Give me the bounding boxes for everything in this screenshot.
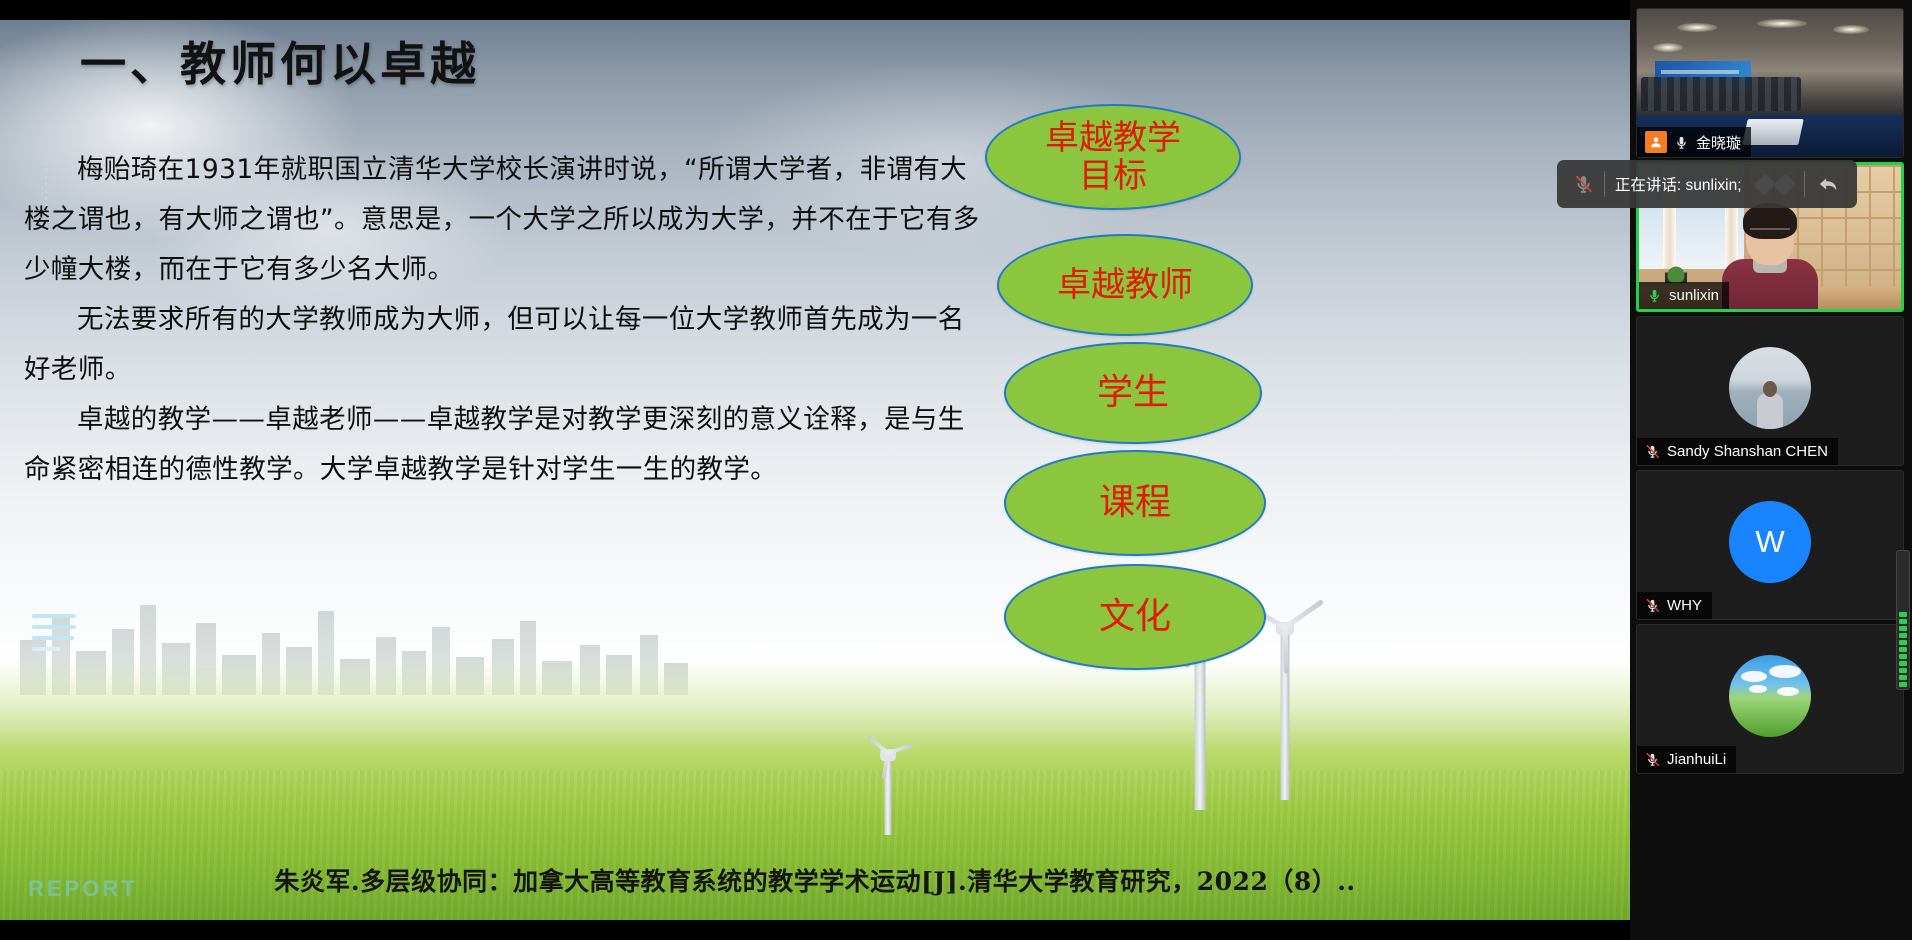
diamond-icon xyxy=(1773,173,1796,196)
meter-bar xyxy=(1899,661,1907,666)
participant-name-badge: Sandy Shanshan CHEN xyxy=(1637,438,1838,465)
speaking-status-toolbar[interactable]: 正在讲话: sunlixin; xyxy=(1557,160,1857,208)
ellipse-node-3[interactable]: 学生 xyxy=(1004,342,1262,444)
mute-toggle-button[interactable] xyxy=(1563,170,1604,198)
wind-turbine-decoration xyxy=(866,725,910,835)
slide-body-text: 梅贻琦在1931年就职国立清华大学校长演讲时说，“所谓大学者，非谓有大楼之谓也，… xyxy=(24,145,984,495)
mic-on-icon xyxy=(1674,133,1689,152)
ellipse-label: 课程 xyxy=(1099,483,1171,523)
meter-bar xyxy=(1899,675,1907,680)
participant-name-badge: sunlixin xyxy=(1639,282,1729,309)
reply-arrow-icon xyxy=(1815,173,1841,195)
meter-bar xyxy=(1899,668,1907,673)
participant-name: Sandy Shanshan CHEN xyxy=(1667,443,1828,460)
slide-paragraph: 梅贻琦在1931年就职国立清华大学校长演讲时说，“所谓大学者，非谓有大楼之谓也，… xyxy=(24,145,984,295)
avatar xyxy=(1645,131,1667,153)
slide-paragraph: 卓越的教学——卓越老师——卓越教学是对教学更深刻的意义诠释，是与生命紧密相连的德… xyxy=(24,395,984,495)
meter-bar xyxy=(1899,647,1907,652)
participant-tile[interactable]: 金晓璇 xyxy=(1636,8,1904,158)
list-lines-icon xyxy=(32,614,82,648)
ellipse-label: 卓越教师 xyxy=(1057,266,1193,304)
letterbox-bottom xyxy=(0,920,1630,940)
participant-tile[interactable]: W WHY xyxy=(1636,470,1904,620)
meeting-window: 一、教师何以卓越 梅贻琦在1931年就职国立清华大学校长演讲时说，“所谓大学者，… xyxy=(0,0,1912,940)
meter-bar xyxy=(1899,612,1907,617)
meter-bar xyxy=(1899,640,1907,645)
mic-muted-icon xyxy=(1645,596,1660,615)
speaking-status-label: 正在讲话: sunlixin; xyxy=(1615,173,1742,195)
return-button[interactable] xyxy=(1805,170,1851,198)
ellipse-node-1[interactable]: 卓越教学 目标 xyxy=(985,104,1241,210)
ellipse-label: 文化 xyxy=(1099,597,1171,637)
mic-muted-icon xyxy=(1573,172,1594,196)
avatar-initial: W xyxy=(1755,524,1784,560)
slide-title: 一、教师何以卓越 xyxy=(80,38,480,91)
diamond-icon xyxy=(1753,173,1776,196)
avatar xyxy=(1729,655,1811,737)
participant-name: WHY xyxy=(1667,597,1702,614)
person-icon xyxy=(1649,135,1663,149)
presentation-slide[interactable]: 一、教师何以卓越 梅贻琦在1931年就职国立清华大学校长演讲时说，“所谓大学者，… xyxy=(0,20,1630,920)
avatar: W xyxy=(1729,501,1811,583)
participant-name: 金晓璇 xyxy=(1696,132,1741,153)
meter-bar xyxy=(1899,654,1907,659)
avatar xyxy=(1729,347,1811,429)
participant-tile[interactable]: JianhuiLi xyxy=(1636,624,1904,774)
participants-sidebar[interactable]: 金晓璇 xyxy=(1630,0,1912,940)
participant-name-badge: WHY xyxy=(1637,592,1712,619)
participant-name-badge: JianhuiLi xyxy=(1637,746,1736,773)
meter-bar xyxy=(1899,619,1907,624)
participant-tile[interactable]: Sandy Shanshan CHEN xyxy=(1636,316,1904,466)
ellipse-node-4[interactable]: 课程 xyxy=(1004,450,1266,556)
speaking-status: 正在讲话: sunlixin; xyxy=(1605,170,1752,198)
participant-name-badge: 金晓璇 xyxy=(1637,127,1751,157)
ellipse-label: 卓越教学 目标 xyxy=(1045,119,1181,195)
ellipse-node-5[interactable]: 文化 xyxy=(1004,564,1266,670)
speaker-figure xyxy=(1722,205,1818,309)
shared-screen-stage[interactable]: 一、教师何以卓越 梅贻琦在1931年就职国立清华大学校长演讲时说，“所谓大学者，… xyxy=(0,0,1630,940)
slide-paragraph: 无法要求所有的大学教师成为大师，但可以让每一位大学教师首先成为一名好老师。 xyxy=(24,295,984,395)
audio-level-meter[interactable] xyxy=(1896,550,1910,690)
ellipse-node-2[interactable]: 卓越教师 xyxy=(997,234,1253,336)
meter-bar xyxy=(1899,633,1907,638)
letterbox-top xyxy=(0,0,1630,20)
participant-name: sunlixin xyxy=(1669,287,1719,304)
mic-on-icon xyxy=(1647,286,1662,305)
wind-turbine-decoration xyxy=(1255,570,1315,800)
meter-bar xyxy=(1899,626,1907,631)
slide-watermark: REPORT xyxy=(28,876,138,902)
mic-muted-icon xyxy=(1645,750,1660,769)
mic-muted-icon xyxy=(1645,442,1660,461)
participant-name: JianhuiLi xyxy=(1667,751,1726,768)
meter-bar xyxy=(1899,682,1907,687)
ellipse-label: 学生 xyxy=(1097,373,1169,413)
slide-citation: 朱炎军.多层级协同：加拿大高等教育系统的教学学术运动[J].清华大学教育研究，2… xyxy=(0,862,1630,898)
